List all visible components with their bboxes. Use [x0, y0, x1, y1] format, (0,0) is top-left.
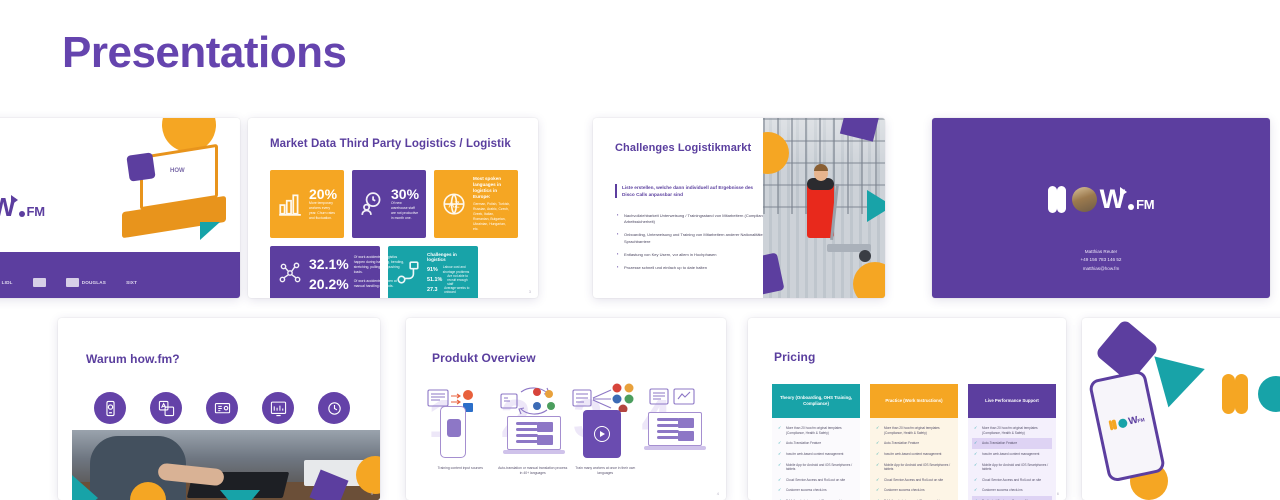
client-logo: SIXT	[126, 280, 137, 285]
decor-teal-triangle	[72, 468, 98, 500]
check-icon: ✓	[876, 441, 881, 446]
check-icon: ✓	[876, 478, 881, 483]
slide-thumbnail-cover[interactable]: HOW W FM MERCEDES-BENZ LIDL	[0, 118, 240, 298]
check-icon: ✓	[974, 441, 979, 446]
step-caption: Training content input sources	[424, 466, 497, 471]
feature-row: ✓Dedicated Customer Success Manager	[972, 496, 1052, 500]
check-icon: ✓	[974, 463, 979, 472]
stat-row: 27.3 Average weeks to onboard	[427, 286, 471, 294]
check-icon: ✓	[876, 488, 881, 493]
stat-value: 32.1%	[309, 257, 349, 272]
b-mark-icon	[66, 278, 79, 287]
route-icon	[395, 260, 421, 286]
pricing-column-theory: Theory (Onboarding, OHS Training, Compli…	[772, 384, 860, 500]
stat-value: 20.2%	[309, 277, 349, 292]
check-icon: ✓	[778, 488, 783, 493]
slide-thumbnail-challenges[interactable]: Challenges Logistikmarkt Liste erstellen…	[593, 118, 885, 298]
check-icon: ✓	[778, 478, 783, 483]
stat-card: 32.1% Of work accidents in logistics hap…	[270, 246, 380, 299]
list-item: Prozesse schnell und einfach up to date …	[617, 265, 772, 271]
check-icon: ✓	[778, 426, 783, 435]
product-step: 4	[642, 386, 715, 476]
slide-page-number: 4	[717, 491, 719, 496]
slide-page-number: 5	[371, 491, 373, 496]
stat-card: AZ Most spoken languages in logistics in…	[434, 170, 518, 238]
feature-row: ✓Customer success check-ins	[776, 485, 856, 496]
pricing-column-live-support: Live Performance Support ✓More than 20 h…	[968, 384, 1056, 500]
contact-phone: +49 156 783 146 52	[932, 256, 1270, 264]
feature-row: ✓Auto-Translation Feature	[972, 438, 1052, 449]
step-caption: Auto-translation or manual translation p…	[497, 466, 570, 476]
check-icon: ✓	[778, 452, 783, 457]
client-logo	[33, 278, 46, 287]
laptop-illustration: HOW	[112, 148, 232, 252]
logo-fm-text: FM	[1136, 197, 1154, 212]
play-triangle-icon	[1120, 187, 1127, 197]
contact-block: Matthias Reuter +49 156 783 146 52 matth…	[932, 248, 1270, 273]
client-logo: LIDL	[2, 280, 13, 285]
slide-thumbnail-contact[interactable]: W FM Matthias Reuter +49 156 783 146 52 …	[932, 118, 1270, 298]
check-icon: ✓	[974, 488, 979, 493]
feature-row: ✓E-Mail and chat support (German working…	[874, 496, 954, 500]
feature-row: ✓E-Mail and chat support (German working…	[776, 496, 856, 500]
feature-row: ✓More than 20 how.fm original templates …	[776, 423, 856, 438]
slide-thumbnail-produkt-overview[interactable]: Produkt Overview 1 Training content inpu…	[406, 318, 726, 500]
slide-title: Pricing	[774, 350, 815, 364]
feature-row: ✓Customer success check-ins	[874, 485, 954, 496]
slide-page-number: 6	[1057, 491, 1059, 496]
product-step-row: 1 Training content input sources 2	[424, 386, 714, 476]
stat-heading: Challenges in logistics	[427, 252, 471, 264]
stat-card: 30% Of new warehouse staff are not produ…	[352, 170, 426, 238]
slide-title: Challenges Logistikmarkt	[615, 142, 751, 154]
stat-value: 30%	[391, 187, 419, 202]
feature-row: ✓Auto-Translation Feature	[874, 438, 954, 449]
stat-card-grid: 20% More temporary workers every year. C…	[270, 170, 518, 298]
slide-page-number: 3	[529, 289, 531, 294]
logo-fm-text: FM	[1137, 417, 1145, 424]
slide-title: Produkt Overview	[432, 351, 536, 365]
contact-email: matthias@how.fm	[932, 265, 1270, 273]
office-photo	[72, 430, 380, 500]
slide-thumbnail-market-data[interactable]: Market Data Third Party Logistics / Logi…	[248, 118, 538, 298]
slide-title: Warum how.fm?	[86, 352, 180, 366]
list-item: Onboarding, Unterweisung und Training vo…	[617, 232, 772, 244]
feature-row: ✓how.fm web-based content management	[776, 449, 856, 460]
client-logo: DOUGLAS	[66, 278, 106, 287]
mobile-learning-icon	[94, 392, 126, 424]
clock-worker-icon	[359, 191, 385, 217]
language-globe-icon: AZ	[441, 191, 467, 217]
stat-row: 91% Labour cost and shortage problems	[427, 265, 471, 273]
stat-card: Challenges in logistics 91% Labour cost …	[388, 246, 478, 299]
feature-row: ✓Customer success check-ins	[972, 485, 1052, 496]
image-mark-icon	[33, 278, 46, 287]
laptop-screen-logo: HOW	[170, 168, 185, 174]
translation-loop-icon	[497, 384, 571, 416]
decor-teal-triangle	[867, 190, 885, 222]
time-saving-icon	[318, 392, 350, 424]
slide-title: Market Data Third Party Logistics / Logi…	[270, 138, 511, 150]
client-logo-bar: MERCEDES-BENZ LIDL DOUGLAS SIXT	[0, 252, 240, 298]
check-icon: ✓	[876, 426, 881, 435]
decor-teal-triangle	[220, 490, 260, 500]
logo-o-photo	[1072, 187, 1097, 212]
step-by-step-icon	[206, 392, 238, 424]
decor-teal-triangle	[1143, 356, 1205, 413]
feature-row: ✓Cloud Service Access and Roll-out on si…	[776, 475, 856, 486]
feature-row: ✓Mobile App for Android and iOS Smartpho…	[776, 460, 856, 475]
stat-value: 20%	[309, 187, 337, 202]
analytics-icon	[648, 386, 718, 412]
stat-text: German, Polish, Turkish, Russian, Arabic…	[473, 202, 511, 232]
stat-row: 51.1% Are not able to recruit enough sta…	[427, 274, 471, 286]
slide-thumbnail-brand-mockup[interactable]: W FM W	[1082, 318, 1280, 500]
bar-chart-icon	[277, 191, 303, 217]
logo-o-circle	[1258, 376, 1280, 412]
check-icon: ✓	[974, 478, 979, 483]
step-caption: Train many workers at once in their own …	[569, 466, 642, 476]
dashboard-icon	[262, 392, 294, 424]
product-step: 1 Training content input sources	[424, 386, 497, 476]
check-icon: ✓	[778, 463, 783, 472]
list-item: Nachvollziehbarkeit Unterweisung / Train…	[617, 213, 772, 225]
check-icon: ✓	[876, 463, 881, 472]
stat-heading: Most spoken languages in logistics in Eu…	[473, 176, 511, 200]
feature-row: ✓Mobile App for Android and iOS Smartpho…	[972, 460, 1052, 475]
contact-name: Matthias Reuter	[932, 248, 1270, 256]
howfm-logo-small: W FM	[1109, 413, 1146, 430]
howfm-logo-color: W FM	[0, 194, 45, 220]
feature-row: ✓More than 20 how.fm original templates …	[972, 423, 1052, 438]
pricing-column-header: Live Performance Support	[968, 384, 1056, 418]
presentations-gallery: Presentations HOW W FM MERCEDES-BENZ	[0, 0, 1280, 500]
feature-row: ✓how.fm web-based content management	[874, 449, 954, 460]
bullet-list: Nachvollziehbarkeit Unterweisung / Train…	[617, 213, 772, 278]
check-icon: ✓	[974, 452, 979, 457]
translate-icon	[150, 392, 182, 424]
howfm-logo-large: W	[1222, 374, 1280, 414]
feature-row: ✓Cloud Service Access and Roll-out on si…	[972, 475, 1052, 486]
stat-text: More temporary workers every year. Churn…	[309, 201, 337, 221]
pricing-column-practice: Practice (Work Instructions) ✓More than …	[870, 384, 958, 500]
stat-card: 20% More temporary workers every year. C…	[270, 170, 344, 238]
feature-row: ✓Mobile App for Android and iOS Smartpho…	[874, 460, 954, 475]
check-icon: ✓	[876, 452, 881, 457]
feature-row: ✓how.fm web-based content management	[972, 449, 1052, 460]
pricing-column-header: Practice (Work Instructions)	[870, 384, 958, 418]
slide-lead-text: Liste erstellen, welche dann individuell…	[615, 184, 765, 198]
check-icon: ✓	[778, 441, 783, 446]
page-title: Presentations	[62, 28, 346, 78]
pricing-column-header: Theory (Onboarding, OHS Training, Compli…	[772, 384, 860, 418]
product-step: 3 Train many workers at once in their ow…	[569, 386, 642, 476]
broadcast-icon	[569, 382, 643, 412]
slide-thumbnail-warum[interactable]: Warum how.fm? Mitarbeiter in eigener Spr…	[58, 318, 380, 500]
feature-row: ✓Cloud Service Access and Roll-out on si…	[874, 475, 954, 486]
logo-fm-text: FM	[27, 204, 45, 219]
feature-row: ✓Auto-Translation Feature	[776, 438, 856, 449]
play-triangle-icon	[11, 195, 18, 205]
howfm-logo-white: W FM	[932, 186, 1270, 213]
check-icon: ✓	[974, 426, 979, 435]
stat-text: Of new warehouse staff are not productiv…	[391, 201, 419, 221]
feature-row: ✓More than 20 how.fm original templates …	[874, 423, 954, 438]
network-icon	[277, 260, 303, 286]
pricing-columns: Theory (Onboarding, OHS Training, Compli…	[772, 384, 1056, 500]
list-item: Entlastung von Key Usern, vor allem in H…	[617, 252, 772, 258]
product-step: 2	[497, 386, 570, 476]
svg-text:AZ: AZ	[448, 199, 460, 209]
slide-thumbnail-pricing[interactable]: Pricing Theory (Onboarding, OHS Training…	[748, 318, 1066, 500]
warehouse-photo	[763, 118, 885, 298]
